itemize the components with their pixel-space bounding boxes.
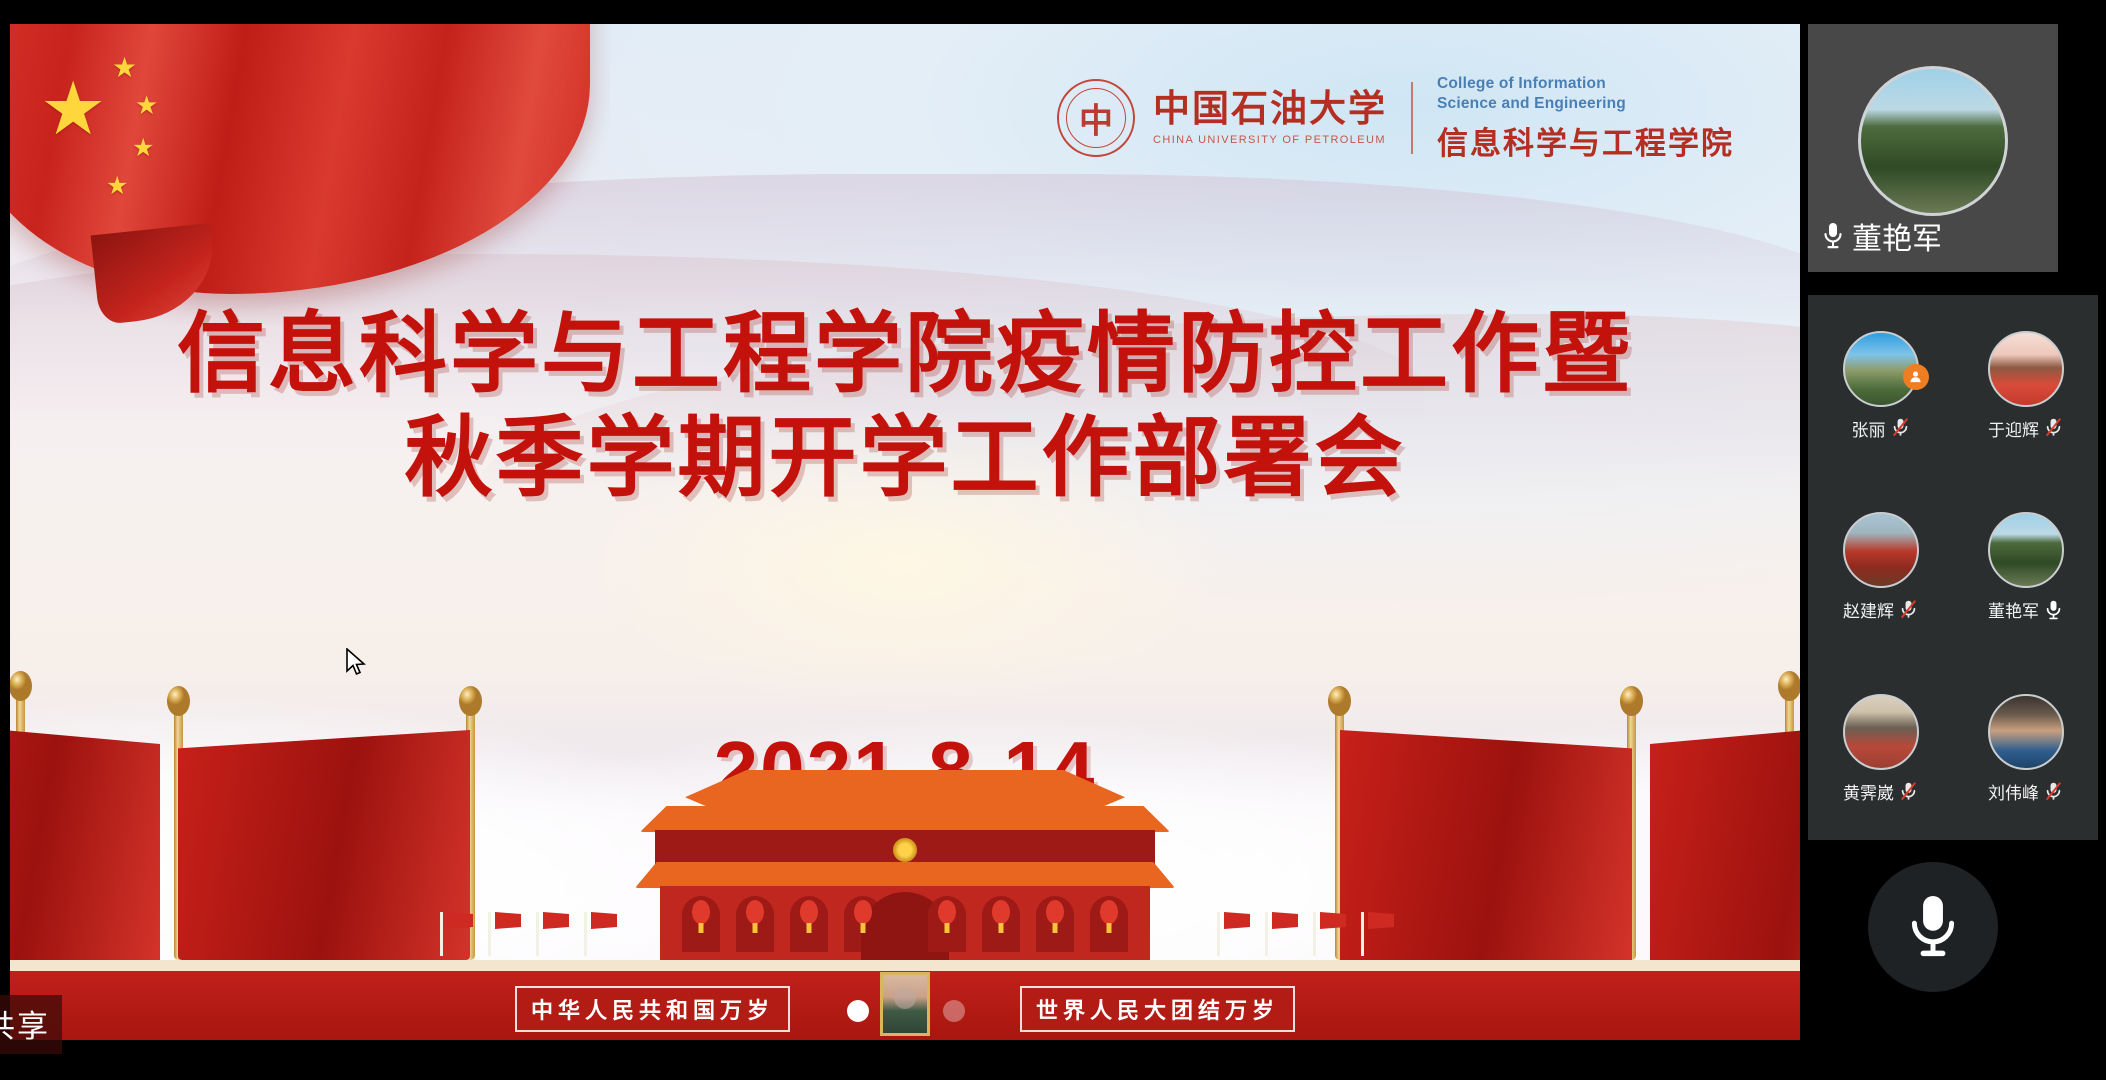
gate-eave-1 — [640, 806, 1170, 832]
gate-body — [660, 886, 1150, 964]
small-flag-icon — [488, 912, 497, 956]
lantern-icon — [938, 900, 956, 924]
slide-title-line1: 信息科学与工程学院疫情防控工作暨 — [10, 302, 1800, 406]
microphone-muted-icon — [1899, 599, 1918, 621]
microphone-muted-icon — [1891, 417, 1910, 439]
microphone-icon — [1905, 891, 1961, 963]
portrait-icon — [880, 972, 930, 1036]
lantern-icon — [992, 900, 1010, 924]
participant-name-row: 张丽 — [1852, 416, 1910, 441]
college-name-block: College of Information Science and Engin… — [1437, 74, 1734, 163]
small-flag-icon — [1313, 912, 1322, 956]
participant-tile[interactable]: 于迎辉 — [1953, 295, 2098, 477]
participant-tile[interactable]: 黄霁崴 — [1808, 658, 1953, 840]
seal-mark-label: 中 — [1079, 94, 1113, 143]
participant-name-row: 赵建辉 — [1843, 597, 1918, 622]
flag-cloth — [178, 730, 470, 960]
lantern-icon — [746, 900, 764, 924]
microphone-icon — [1822, 221, 1844, 251]
small-flag-icon — [1361, 912, 1370, 956]
active-speaker-tile[interactable]: 董艳军 — [1808, 24, 2058, 272]
microphone-muted-icon — [1899, 781, 1918, 803]
participant-name: 刘伟峰 — [1988, 779, 2039, 804]
zoom-meeting-window: ★ ★ ★ ★ ★ 中 中国石油大学 CHINA UNIVERSITY OF P… — [0, 0, 2106, 1080]
active-speaker-name: 董艳军 — [1852, 214, 1942, 258]
logo-divider — [1411, 82, 1413, 154]
screen-share-label: 共享 — [0, 1009, 50, 1045]
flag-star-3: ★ — [132, 136, 154, 161]
university-name-block: 中国石油大学 CHINA UNIVERSITY OF PETROLEUM — [1153, 90, 1387, 146]
small-flag-icon — [1217, 912, 1226, 956]
avatar — [1988, 512, 2064, 588]
lantern-icon — [1046, 900, 1064, 924]
participant-name: 黄霁崴 — [1843, 779, 1894, 804]
mic-toggle-button[interactable] — [1868, 862, 1998, 992]
shared-screen-stage[interactable]: ★ ★ ★ ★ ★ 中 中国石油大学 CHINA UNIVERSITY OF P… — [0, 0, 1800, 1080]
small-flag-icon — [584, 912, 593, 956]
participant-name: 赵建辉 — [1843, 597, 1894, 622]
lantern-icon — [854, 900, 872, 924]
slogan-left: 中华人民共和国万岁 — [515, 986, 790, 1032]
college-name-en-line2: Science and Engineering — [1437, 94, 1734, 114]
screen-share-indicator: 共享 — [0, 995, 62, 1054]
university-seal-icon: 中 — [1057, 79, 1135, 157]
university-name-en: CHINA UNIVERSITY OF PETROLEUM — [1153, 134, 1387, 146]
participant-tile[interactable]: 赵建辉 — [1808, 477, 1953, 659]
flag-cloth — [10, 720, 160, 960]
slide-dot-inactive[interactable] — [943, 1000, 965, 1022]
participant-tile[interactable]: 张丽 — [1808, 295, 1953, 477]
small-flag-icon — [1265, 912, 1274, 956]
microphone-muted-icon — [2044, 417, 2063, 439]
avatar — [1988, 694, 2064, 770]
lantern-icon — [692, 900, 710, 924]
lantern-icon — [800, 900, 818, 924]
university-logo: 中 中国石油大学 CHINA UNIVERSITY OF PETROLEUM C… — [1057, 74, 1734, 163]
participant-name-row: 刘伟峰 — [1988, 779, 2063, 804]
avatar — [1988, 331, 2064, 407]
participant-tile[interactable]: 刘伟峰 — [1953, 658, 2098, 840]
college-name-en-line1: College of Information — [1437, 74, 1734, 94]
university-name-cn: 中国石油大学 — [1153, 90, 1387, 129]
microphone-icon — [2044, 599, 2063, 621]
lantern-icon — [1100, 900, 1118, 924]
college-name-cn: 信息科学与工程学院 — [1437, 118, 1734, 163]
participant-tile[interactable]: 董艳军 — [1953, 477, 2098, 659]
participant-name: 董艳军 — [1988, 597, 2039, 622]
flag-star-2: ★ — [135, 92, 158, 118]
slide-dot-active[interactable] — [847, 1000, 869, 1022]
national-emblem-icon — [893, 838, 917, 862]
flag-star-large: ★ — [40, 72, 106, 146]
slogan-right: 世界人民大团结万岁 — [1020, 986, 1295, 1032]
participant-name-row: 黄霁崴 — [1843, 779, 1918, 804]
small-flag-icon — [440, 912, 449, 956]
avatar — [1843, 694, 1919, 770]
avatar — [1843, 512, 1919, 588]
participants-panel: 董艳军 张丽 — [1800, 0, 2106, 1080]
participant-grid: 张丽 于迎辉 — [1808, 295, 2098, 840]
host-badge-icon — [1903, 364, 1929, 390]
flag-star-4: ★ — [106, 174, 128, 199]
slide-title: 信息科学与工程学院疫情防控工作暨 秋季学期开学工作部署会 — [10, 302, 1800, 510]
small-flag-icon — [536, 912, 545, 956]
tiananmen-wall: 中华人民共和国万岁 世界人民大团结万岁 — [10, 960, 1800, 1040]
participant-name: 于迎辉 — [1988, 416, 2039, 441]
participant-name-row: 董艳军 — [1988, 597, 2063, 622]
avatar — [1858, 66, 2008, 216]
microphone-muted-icon — [2044, 781, 2063, 803]
flag-cloth — [1650, 720, 1800, 960]
presentation-slide[interactable]: ★ ★ ★ ★ ★ 中 中国石油大学 CHINA UNIVERSITY OF P… — [10, 24, 1800, 1040]
active-speaker-name-row: 董艳军 — [1822, 214, 1942, 258]
tiananmen-gate-icon — [625, 770, 1185, 970]
participant-name: 张丽 — [1852, 416, 1886, 441]
flag-star-1: ★ — [112, 54, 137, 82]
participant-name-row: 于迎辉 — [1988, 416, 2063, 441]
chinese-flag-icon: ★ ★ ★ ★ ★ — [10, 24, 610, 324]
gate-eave-2 — [635, 862, 1175, 888]
slide-title-line2: 秋季学期开学工作部署会 — [10, 406, 1800, 510]
